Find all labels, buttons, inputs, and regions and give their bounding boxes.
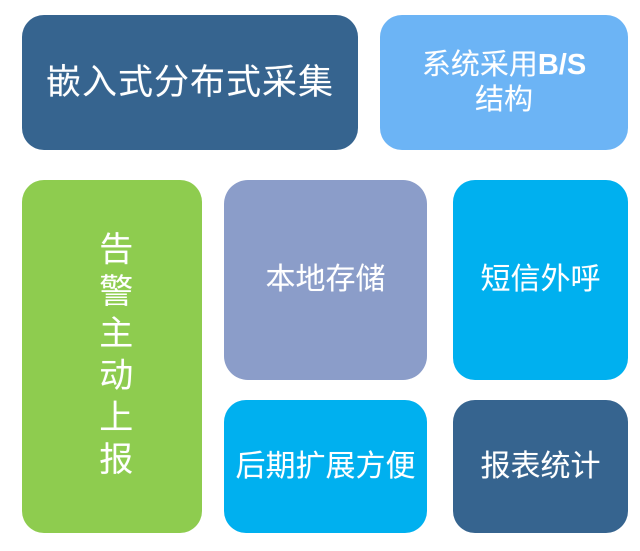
diagram-node-label: 后期扩展方便 [230, 449, 422, 484]
diagram-node-label: 报表统计 [475, 449, 607, 484]
diagram-node-future-expansion[interactable]: 后期扩展方便 [224, 400, 427, 533]
diagram-node-label: 系统采用B/S结构 [416, 48, 592, 116]
diagram-node-label: 本地存储 [260, 262, 392, 297]
diagram-node-label-suffix: 结构 [475, 84, 533, 116]
diagram-node-local-storage[interactable]: 本地存储 [224, 180, 427, 380]
diagram-node-label-latin: B/S [538, 49, 586, 81]
diagram-node-sms-outcall[interactable]: 短信外呼 [453, 180, 628, 380]
diagram-node-label: 告警主动上报 [93, 231, 130, 483]
diagram-node-bs-architecture[interactable]: 系统采用B/S结构 [380, 15, 628, 150]
diagram-node-report-statistics[interactable]: 报表统计 [453, 400, 628, 533]
diagram-node-embedded-acquisition[interactable]: 嵌入式分布式采集 [22, 15, 358, 150]
diagram-node-label: 短信外呼 [475, 262, 607, 297]
diagram-node-label: 嵌入式分布式采集 [40, 62, 340, 103]
diagram-canvas: 嵌入式分布式采集 系统采用B/S结构 告警主动上报 本地存储 短信外呼 后期扩展… [0, 0, 640, 551]
diagram-node-label-prefix: 系统采用 [422, 49, 538, 81]
diagram-node-alarm-reporting[interactable]: 告警主动上报 [22, 180, 202, 533]
